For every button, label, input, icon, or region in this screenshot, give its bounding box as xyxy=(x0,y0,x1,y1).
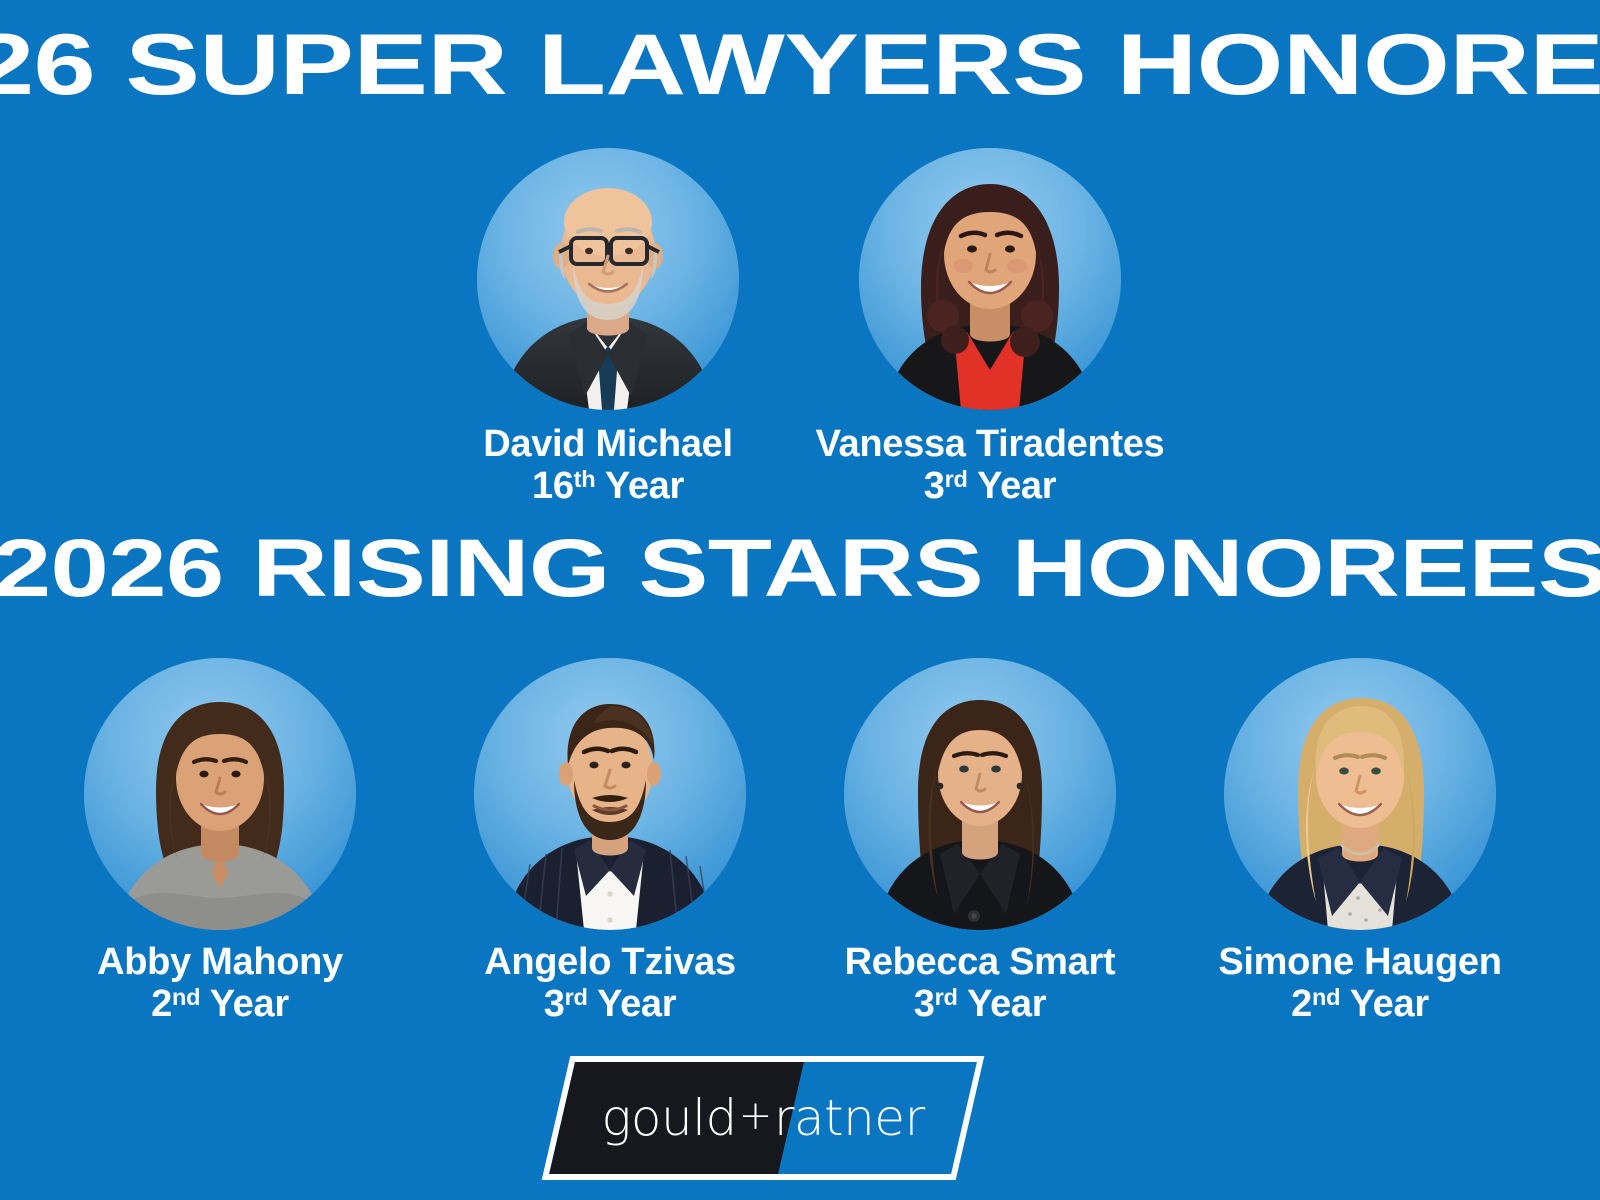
honoree-name: Abby Mahony xyxy=(0,942,440,983)
page-title-rising-stars: 2026 RISING STARS HONOREES xyxy=(0,528,1600,610)
year-label: Year xyxy=(1350,983,1429,1025)
honoree-year: 2nd Year xyxy=(0,983,440,1026)
headshot-rebecca-smart-illustration xyxy=(844,658,1116,930)
poster-canvas: 2026 SUPER LAWYERS HONOREES xyxy=(0,0,1600,1200)
year-number: 3 xyxy=(924,465,945,507)
avatar-rebecca-smart xyxy=(844,658,1116,930)
honoree-name: Vanessa Tiradentes xyxy=(770,424,1210,465)
year-ordinal: rd xyxy=(945,466,968,492)
honoree-card-abby-mahony: Abby Mahony 2nd Year xyxy=(0,658,440,1026)
logo-second-word: ratner xyxy=(774,1089,925,1147)
year-ordinal: nd xyxy=(1312,984,1340,1010)
avatar-vanessa-tiradentes xyxy=(859,148,1121,410)
honoree-card-david-michael: David Michael 16th Year xyxy=(388,148,828,508)
avatar-david-michael xyxy=(477,148,739,410)
honoree-card-simone-haugen: Simone Haugen 2nd Year xyxy=(1140,658,1580,1026)
honoree-card-rebecca-smart: Rebecca Smart 3rd Year xyxy=(760,658,1200,1026)
year-ordinal: rd xyxy=(565,984,588,1010)
avatar-abby-mahony xyxy=(84,658,356,930)
headshot-david-michael-illustration xyxy=(477,148,739,410)
honoree-year: 3rd Year xyxy=(760,983,1200,1026)
year-label: Year xyxy=(977,465,1056,507)
year-number: 3 xyxy=(914,983,935,1025)
logo-wordmark: gould+ratner xyxy=(556,1056,970,1180)
honoree-name: David Michael xyxy=(388,424,828,465)
page-title-super-lawyers: 2026 SUPER LAWYERS HONOREES xyxy=(0,22,1600,108)
headshot-simone-haugen-illustration xyxy=(1224,658,1496,930)
avatar-angelo-tzivas xyxy=(474,658,746,930)
year-label: Year xyxy=(967,983,1046,1025)
honoree-name: Simone Haugen xyxy=(1140,942,1580,983)
year-label: Year xyxy=(605,465,684,507)
headshot-vanessa-tiradentes-illustration xyxy=(859,148,1121,410)
year-number: 3 xyxy=(544,983,565,1025)
logo-plus-symbol: + xyxy=(737,1093,774,1139)
year-number: 2 xyxy=(1291,983,1312,1025)
year-ordinal: rd xyxy=(935,984,958,1010)
honoree-year: 3rd Year xyxy=(770,465,1210,508)
honoree-name: Rebecca Smart xyxy=(760,942,1200,983)
year-number: 2 xyxy=(151,983,172,1025)
avatar-simone-haugen xyxy=(1224,658,1496,930)
year-ordinal: nd xyxy=(172,984,200,1010)
logo-first-word: gould xyxy=(601,1089,736,1147)
year-label: Year xyxy=(597,983,676,1025)
honoree-year: 2nd Year xyxy=(1140,983,1580,1026)
year-number: 16 xyxy=(532,465,574,507)
headshot-angelo-tzivas-illustration xyxy=(474,658,746,930)
year-ordinal: th xyxy=(574,466,596,492)
honoree-card-vanessa-tiradentes: Vanessa Tiradentes 3rd Year xyxy=(770,148,1210,508)
honoree-year: 16th Year xyxy=(388,465,828,508)
year-label: Year xyxy=(210,983,289,1025)
headshot-abby-mahony-illustration xyxy=(84,658,356,930)
gould-ratner-logo[interactable]: gould+ratner xyxy=(556,1056,970,1180)
